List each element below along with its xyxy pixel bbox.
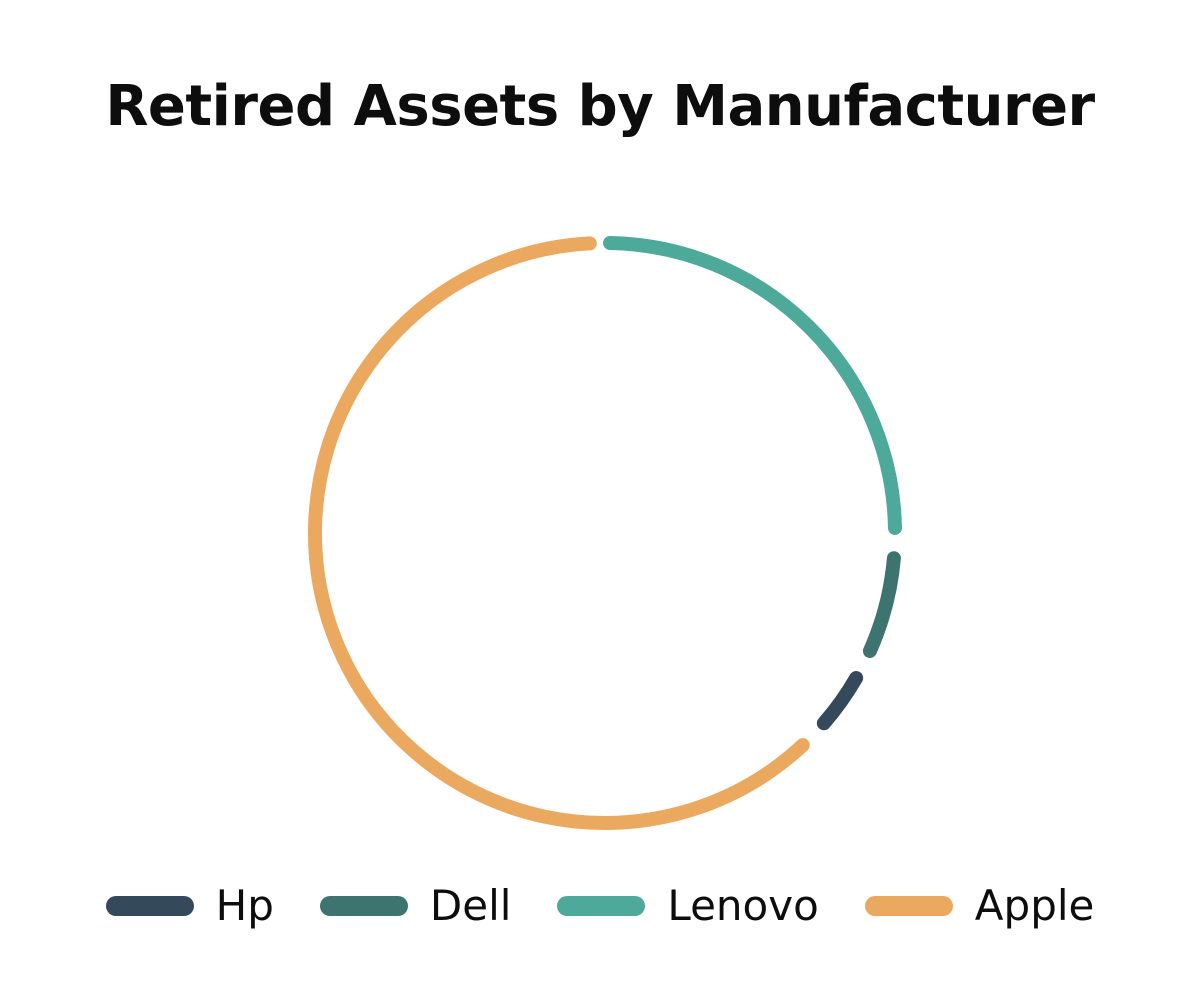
- legend-swatch-icon: [106, 896, 194, 916]
- legend-label: Apple: [975, 885, 1095, 927]
- donut-segment-apple[interactable]: [315, 243, 803, 823]
- legend-item-lenovo[interactable]: Lenovo: [557, 885, 818, 927]
- chart-page: Retired Assets by Manufacturer HpDellLen…: [0, 0, 1200, 1007]
- legend-swatch-icon: [865, 896, 953, 916]
- legend-label: Dell: [430, 885, 512, 927]
- donut-chart-svg: [0, 0, 1200, 870]
- donut-chart: [0, 0, 1200, 870]
- legend-label: Lenovo: [667, 885, 818, 927]
- donut-segment-dell[interactable]: [870, 558, 894, 651]
- legend-item-dell[interactable]: Dell: [320, 885, 512, 927]
- legend-swatch-icon: [320, 896, 408, 916]
- donut-segment-hp[interactable]: [824, 678, 856, 723]
- legend-item-hp[interactable]: Hp: [106, 885, 274, 927]
- legend-swatch-icon: [557, 896, 645, 916]
- donut-segment-lenovo[interactable]: [610, 243, 895, 528]
- legend-label: Hp: [216, 885, 274, 927]
- legend-item-apple[interactable]: Apple: [865, 885, 1095, 927]
- donut-arc-group: [315, 243, 895, 823]
- chart-legend: HpDellLenovoApple: [0, 874, 1200, 938]
